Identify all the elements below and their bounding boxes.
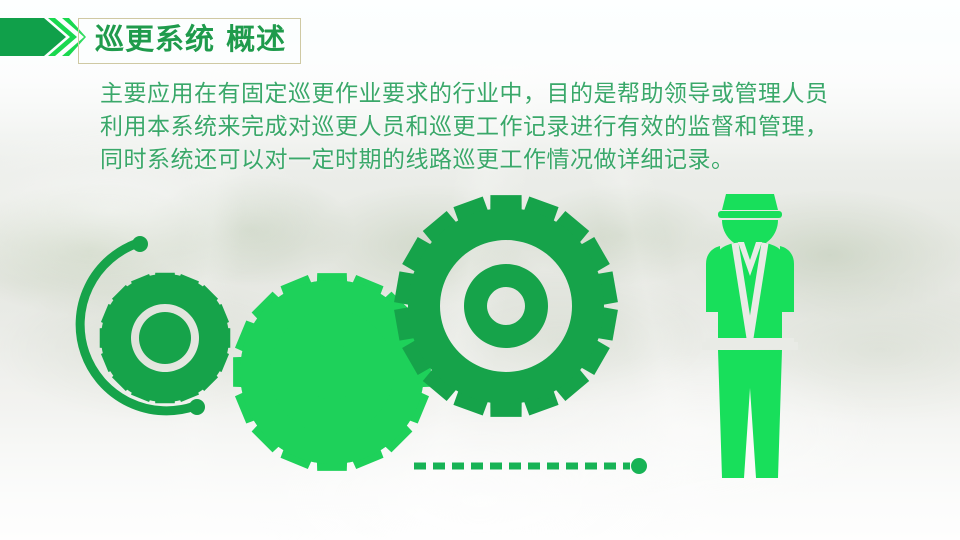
header-arrow-icon	[0, 16, 86, 58]
body-paragraph-text: 主要应用在有固定巡更作业要求的行业中，目的是帮助领导或管理人员利用本系统来完成对…	[100, 78, 842, 177]
slide-title-box: 巡更系统 概述	[78, 18, 301, 64]
body-paragraph-block: 主要应用在有固定巡更作业要求的行业中，目的是帮助领导或管理人员利用本系统来完成对…	[100, 78, 842, 177]
slide-title: 巡更系统 概述	[95, 21, 286, 57]
slide-canvas: 巡更系统 概述 主要应用在有固定巡更作业要求的行业中，目的是帮助领导或管理人员利…	[0, 0, 960, 540]
